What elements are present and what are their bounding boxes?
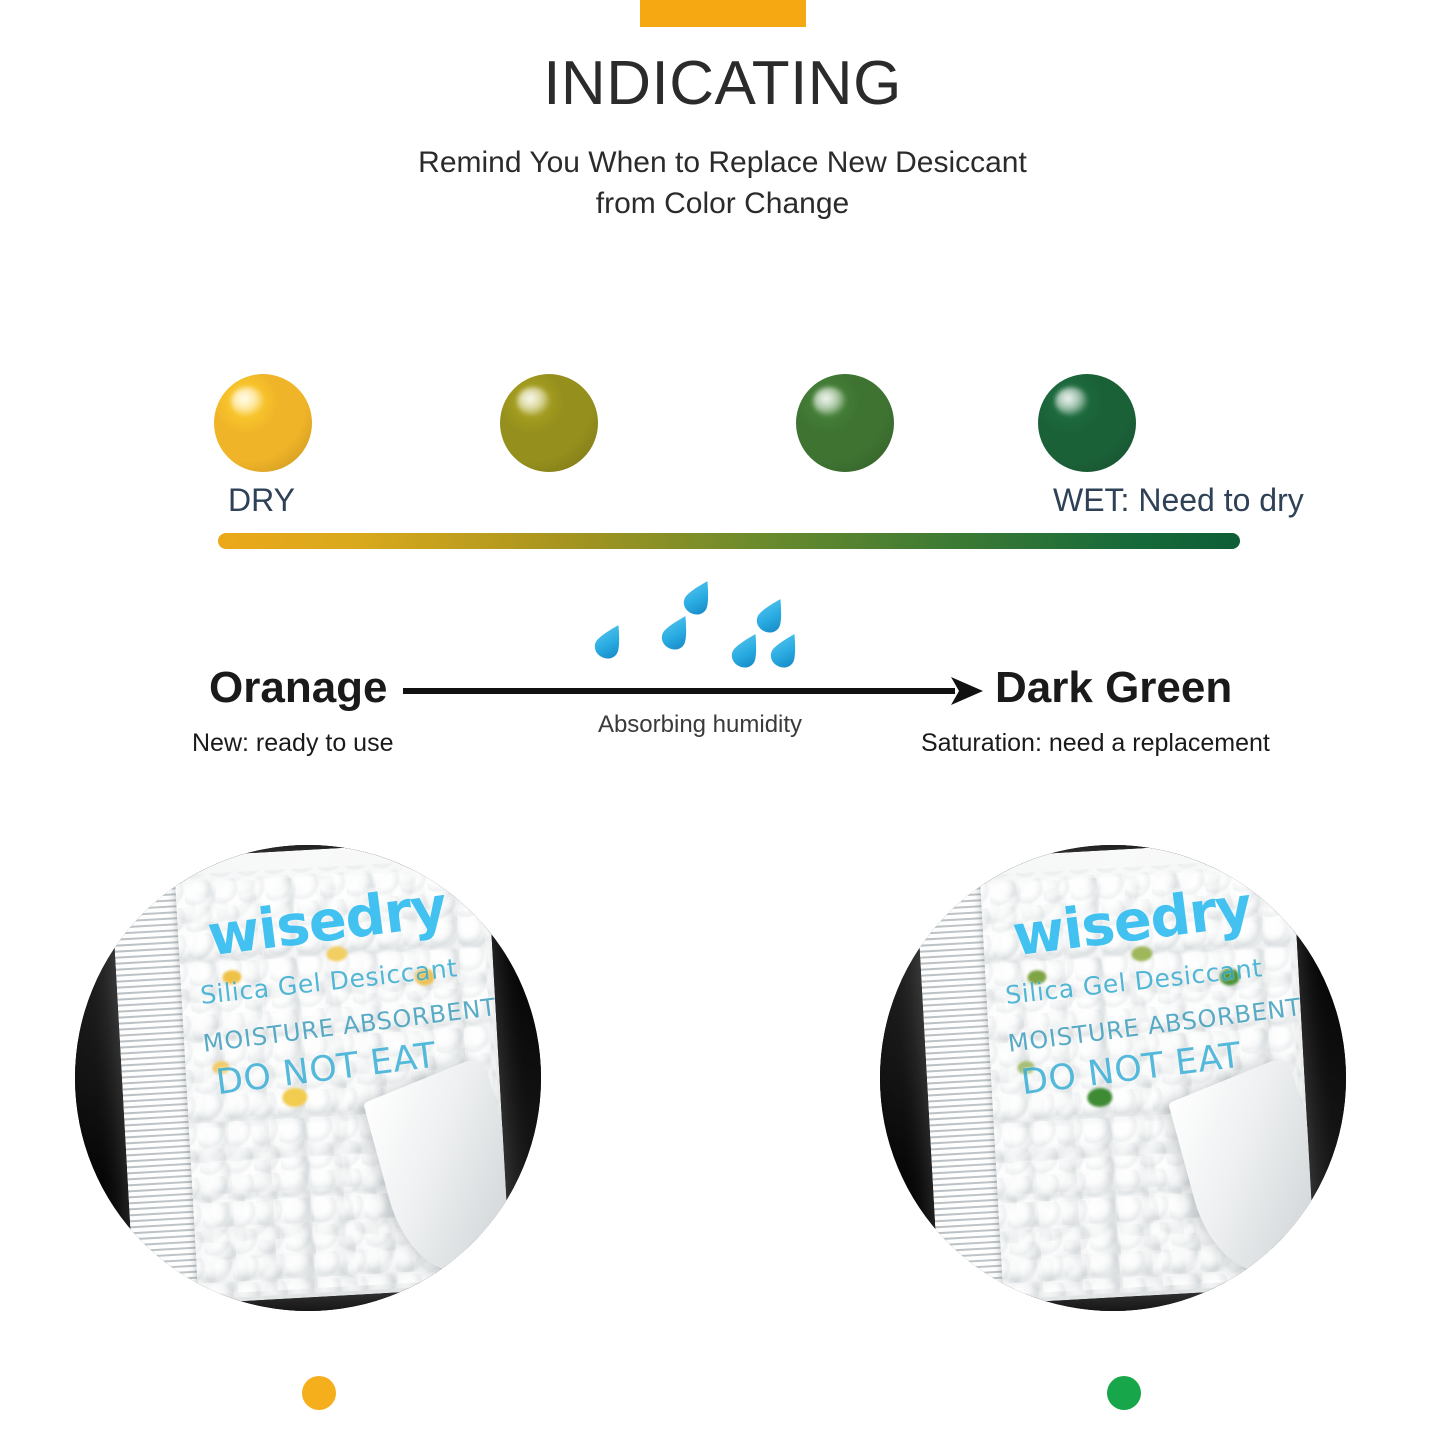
scale-sphere-green	[796, 374, 894, 472]
transition-arrow-caption: Absorbing humidity	[585, 709, 815, 741]
transition-label-end: Dark Green	[995, 662, 1232, 714]
color-gradient-bar	[218, 533, 1240, 549]
scale-label-dry: DRY	[228, 481, 295, 519]
water-droplet-icon	[657, 609, 698, 655]
wet-sachet-photo: wisedry Silica Gel Desiccant MOISTURE AB…	[880, 845, 1346, 1311]
scale-sphere-olive	[500, 374, 598, 472]
sachet-packet: wisedry Silica Gel Desiccant MOISTURE AB…	[914, 845, 1316, 1307]
sachet-packet: wisedry Silica Gel Desiccant MOISTURE AB…	[109, 845, 511, 1307]
transition-caption-start: New: ready to use	[192, 727, 394, 759]
page-title: INDICATING	[0, 47, 1445, 121]
water-droplet-icon	[727, 627, 768, 673]
subtitle-line-2: from Color Change	[0, 183, 1445, 224]
top-accent-bar	[640, 0, 806, 27]
scale-sphere-dry	[214, 374, 312, 472]
transition-caption-end: Saturation: need a replacement	[921, 727, 1270, 759]
water-droplet-icon	[679, 574, 720, 620]
subtitle-line-1: Remind You When to Replace New Desiccant	[0, 142, 1445, 183]
water-droplet-icon	[590, 618, 631, 664]
infographic-page: INDICATING Remind You When to Replace Ne…	[0, 0, 1445, 1445]
scale-sphere-dark-green	[1038, 374, 1136, 472]
transition-arrow-icon	[403, 672, 983, 710]
dry-sachet-photo: wisedry Silica Gel Desiccant MOISTURE AB…	[75, 845, 541, 1311]
page-subtitle: Remind You When to Replace New Desiccant…	[0, 142, 1445, 224]
status-dot-wet	[1107, 1376, 1141, 1410]
scale-label-wet: WET: Need to dry	[1053, 481, 1304, 519]
transition-label-start: Oranage	[209, 662, 388, 714]
status-dot-dry	[302, 1376, 336, 1410]
